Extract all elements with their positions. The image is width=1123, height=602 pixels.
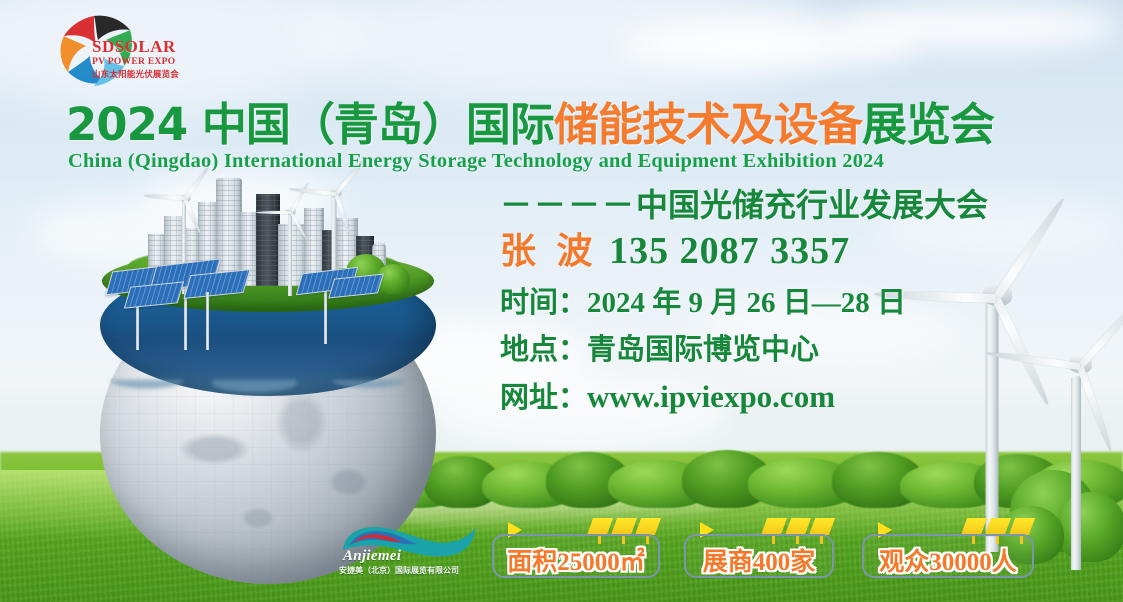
badge-area-unit: ㎡ (620, 547, 645, 576)
page-title: 2024 中国（青岛）国际储能技术及设备展览会 (66, 102, 1066, 147)
event-url-value[interactable]: www.ipviexpo.com (587, 379, 835, 414)
badge-area-value: 25000 (557, 549, 620, 576)
event-url-label: 网址： (500, 380, 587, 414)
stat-badge-exhibitors[interactable]: 展商400家 (684, 522, 834, 578)
badge-area-label: 面积 (507, 547, 557, 576)
badge-exhibitors-value: 400 (753, 549, 791, 576)
event-date-value: 2024 年 9 月 26 日—28 日 (587, 287, 906, 319)
conference-subtitle: －－－－中国光储充行业发展大会 (500, 188, 1100, 223)
anjiemei-logo-en: Anjiemei (343, 548, 401, 565)
badge-visitors-text: 观众30000人 (862, 542, 1034, 578)
event-venue-line: 地点：青岛国际博览中心 (500, 327, 1100, 373)
sdsolar-logo-text: SDSOLAR PV POWER EXPO 山东太阳能光伏展览会 (92, 38, 207, 82)
subtitle-text: 中国光储充行业发展大会 (636, 186, 988, 224)
stat-badge-visitors[interactable]: 观众30000人 (862, 522, 1034, 578)
event-date-line: 时间：2024 年 9 月 26 日—28 日 (500, 280, 1100, 327)
badge-exhibitors-label: 展商 (703, 547, 753, 576)
event-venue-value: 青岛国际博览中心 (587, 332, 819, 366)
badge-exhibitors-unit: 家 (790, 547, 815, 576)
anjiemei-logo[interactable]: Anjiemei 安捷美（北京）国际展览有限公司 (335, 520, 480, 582)
eco-globe-illustration (88, 176, 448, 476)
expo-banner: SDSOLAR PV POWER EXPO 山东太阳能光伏展览会 2024 中国… (0, 0, 1123, 602)
badge-visitors-value: 30000 (929, 549, 992, 576)
badge-exhibitors-text: 展商400家 (684, 542, 834, 578)
badge-visitors-unit: 人 (992, 547, 1017, 576)
contact-phone: 135 2087 3357 (609, 230, 850, 272)
title-cn-part3: 展览会 (862, 98, 994, 151)
title-cn-part2: 储能技术及设备 (554, 98, 862, 151)
sdsolar-logo-sub: PV POWER EXPO (92, 55, 207, 69)
stat-badge-area[interactable]: 面积25000㎡ (492, 522, 660, 578)
anjiemei-logo-cn: 安捷美（北京）国际展览有限公司 (339, 565, 479, 576)
badge-area-text: 面积25000㎡ (492, 542, 660, 578)
event-url-line: 网址：www.ipviexpo.com (500, 373, 1100, 422)
sdsolar-logo-main: SDSOLAR (92, 38, 207, 55)
page-subtitle-en: China (Qingdao) International Energy Sto… (68, 150, 1068, 173)
title-cn-part1: 2024 中国（青岛）国际 (66, 98, 554, 151)
event-info-block: －－－－中国光储充行业发展大会 张 波 135 2087 3357 时间：202… (500, 188, 1100, 422)
sdsolar-logo-cn: 山东太阳能光伏展览会 (92, 69, 207, 82)
event-venue-label: 地点： (500, 332, 587, 366)
subtitle-dash: －－－－ (500, 187, 636, 223)
sdsolar-logo[interactable]: SDSOLAR PV POWER EXPO 山东太阳能光伏展览会 (52, 6, 202, 90)
badge-visitors-label: 观众 (879, 547, 929, 576)
event-date-label: 时间： (500, 285, 587, 319)
contact-name: 张 波 (500, 231, 597, 272)
contact-line: 张 波 135 2087 3357 (500, 223, 1100, 280)
